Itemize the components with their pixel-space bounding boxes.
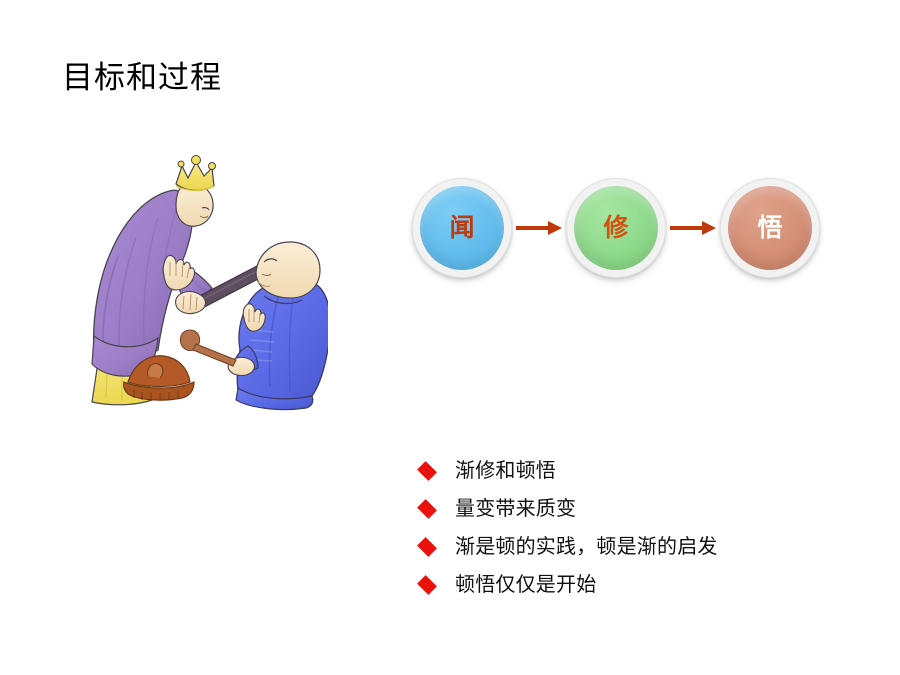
- bullet-text: 渐是顿的实践，顿是渐的启发: [455, 534, 718, 560]
- diamond-bullet-icon: [417, 461, 437, 481]
- process-node-label: 闻: [449, 216, 474, 241]
- diamond-bullet-icon: [417, 537, 437, 557]
- page-title: 目标和过程: [62, 58, 222, 98]
- slide-canvas: 目标和过程: [0, 0, 900, 675]
- diamond-bullet-icon: [417, 575, 437, 595]
- process-node-label: 修: [603, 216, 628, 241]
- kneeling-monk: [228, 242, 328, 410]
- bullet-list: 渐修和顿悟 量变带来质变 渐是顿的实践，顿是渐的启发 顿悟仅仅是开始: [418, 452, 838, 604]
- diamond-bullet-icon: [417, 499, 437, 519]
- process-flow-diagram: 闻 修 悟: [412, 172, 832, 284]
- gripping-hand: [176, 292, 206, 314]
- process-node-xiu[interactable]: 修: [566, 178, 666, 278]
- bullet-text: 渐修和顿悟: [455, 458, 556, 484]
- process-node-wen[interactable]: 闻: [412, 178, 512, 278]
- process-arrow-2: [666, 218, 720, 238]
- illustration-king-and-monk: [78, 150, 328, 415]
- list-item: 量变带来质变: [418, 490, 838, 528]
- spoon: [180, 330, 236, 366]
- process-node-label: 悟: [757, 216, 782, 241]
- list-item: 渐修和顿悟: [418, 452, 838, 490]
- process-arrow-1: [512, 218, 566, 238]
- bullet-text: 顿悟仅仅是开始: [455, 572, 596, 598]
- process-node-wu[interactable]: 悟: [720, 178, 820, 278]
- list-item: 渐是顿的实践，顿是渐的启发: [418, 528, 838, 566]
- bullet-text: 量变带来质变: [455, 496, 576, 522]
- list-item: 顿悟仅仅是开始: [418, 566, 838, 604]
- crown: [176, 156, 216, 191]
